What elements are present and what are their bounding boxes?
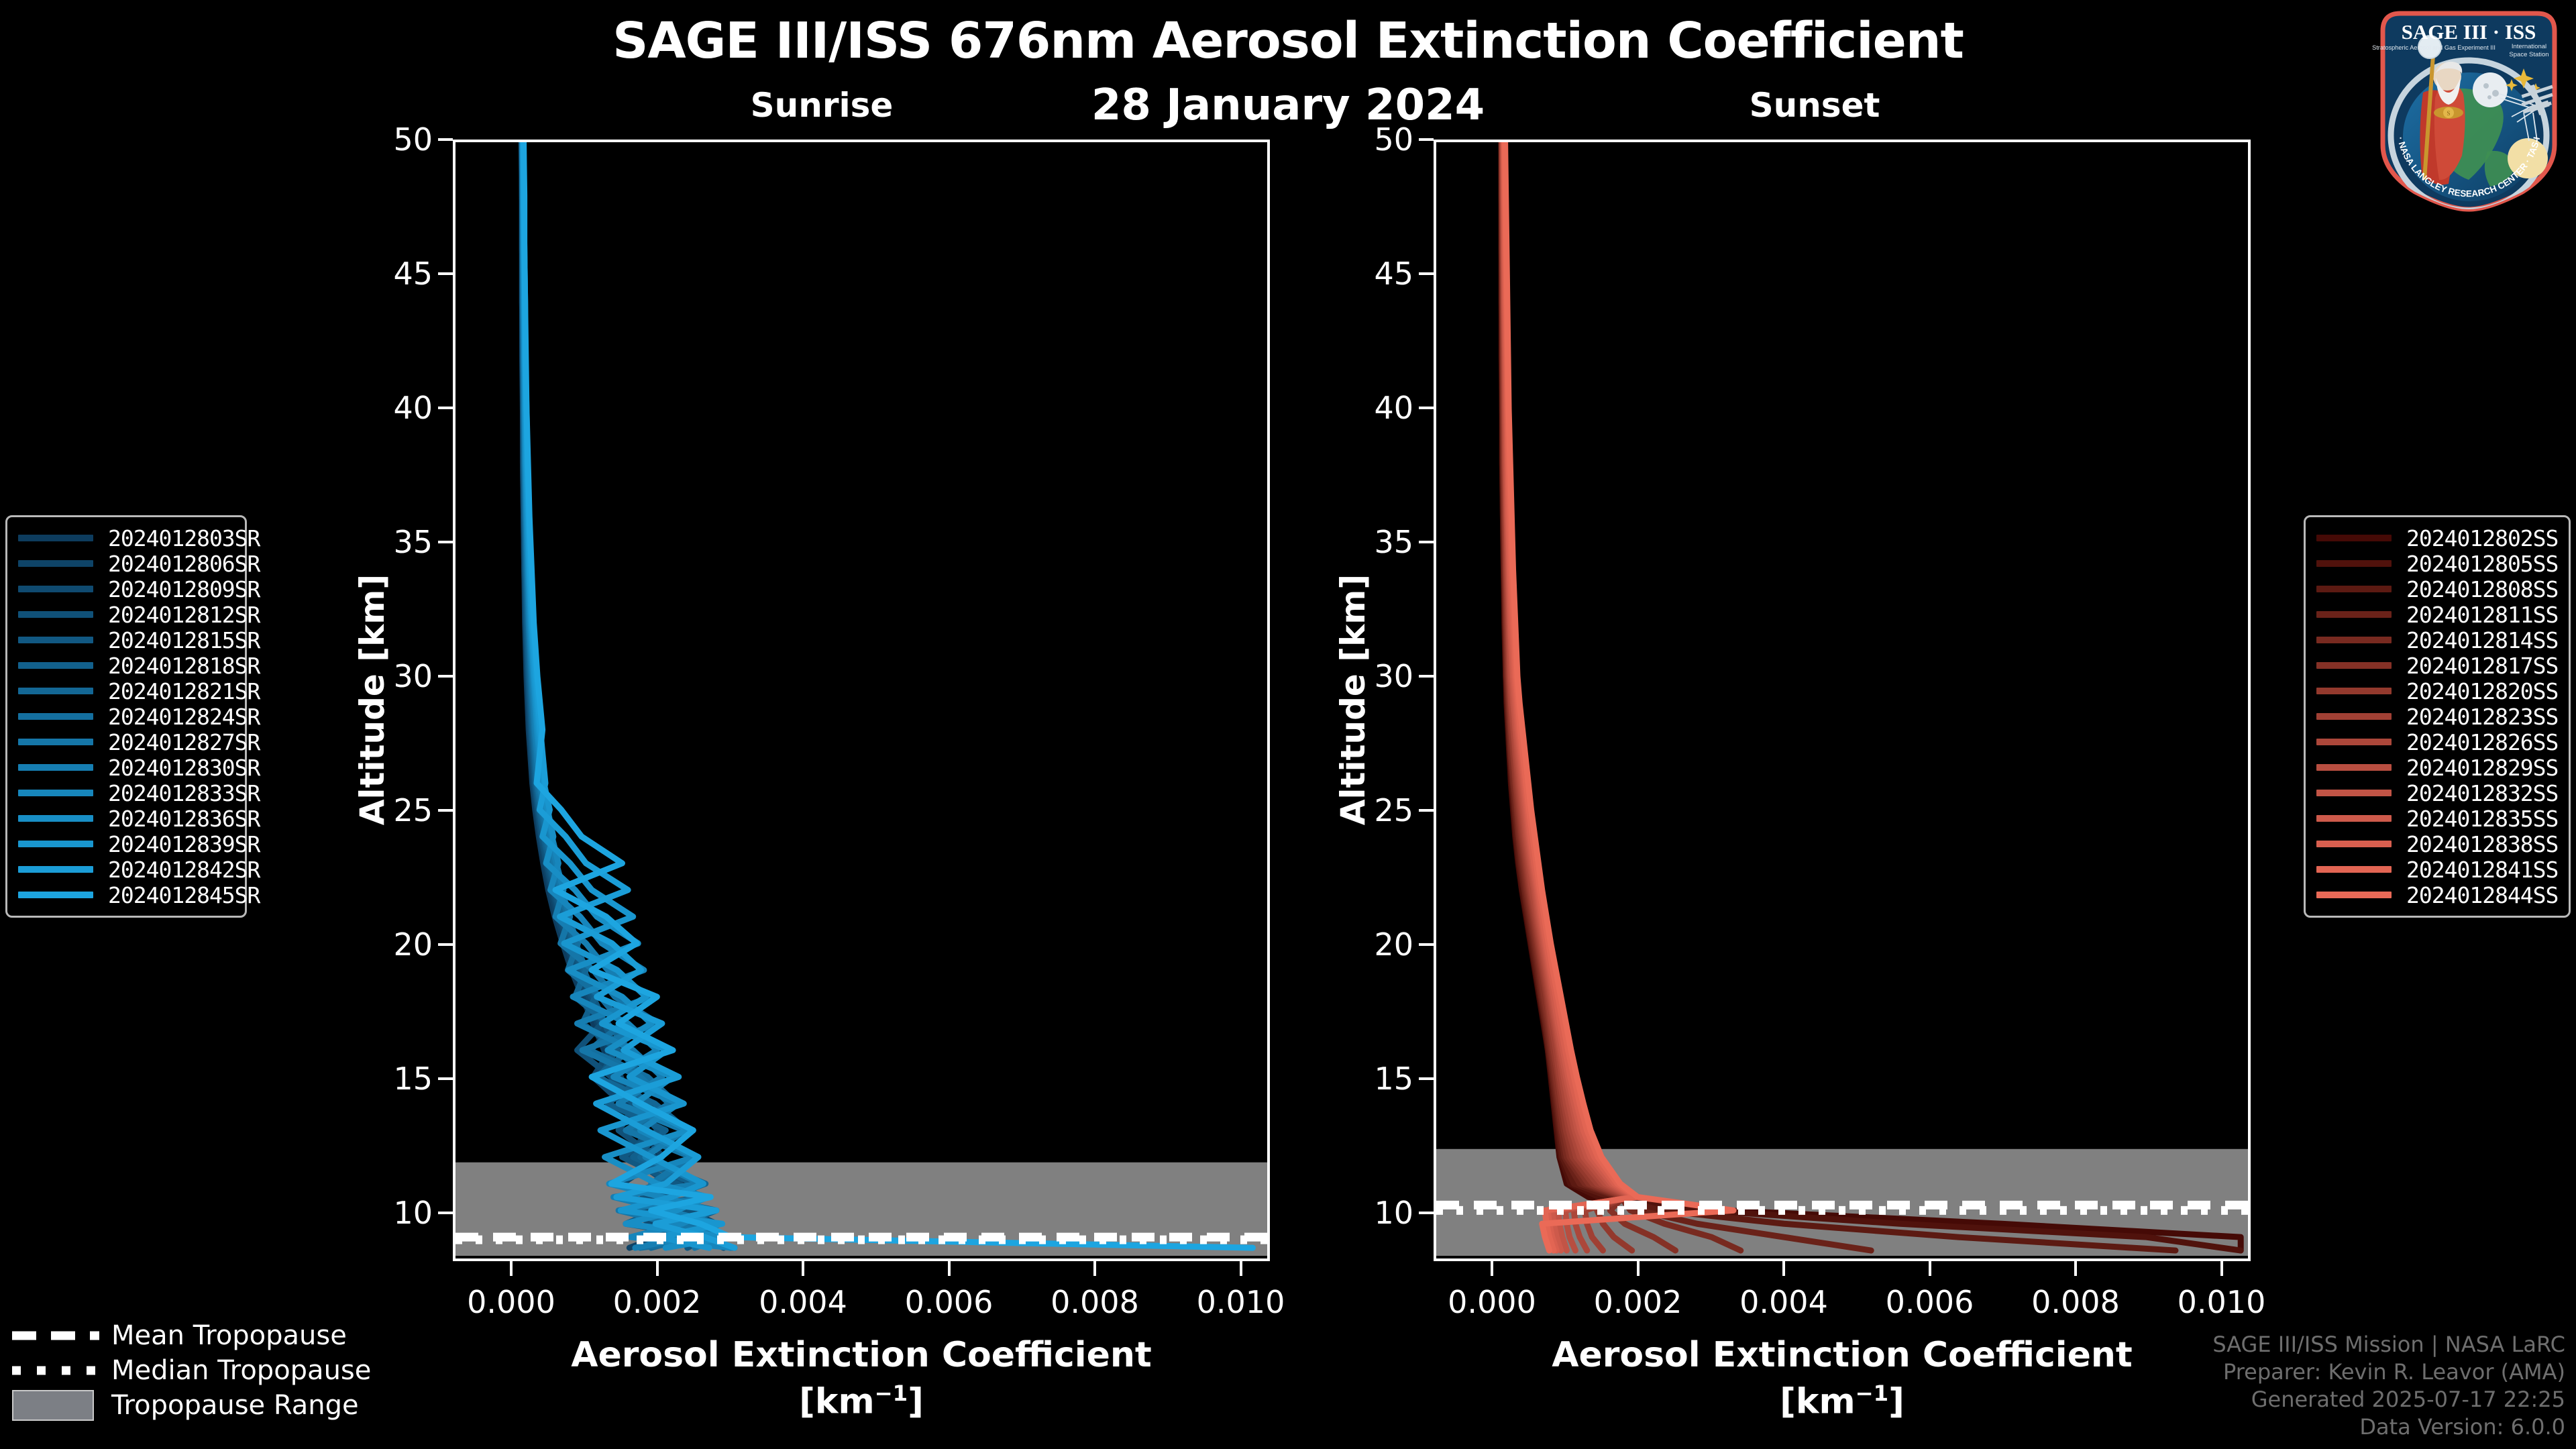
y-tick-mark (438, 1077, 453, 1080)
legend-item[interactable]: 2024012811SS (2316, 602, 2558, 627)
y-tick-label: 10 (1306, 1195, 1413, 1231)
x-tick-label: 0.006 (1886, 1284, 1974, 1320)
y-tick-mark (1419, 1212, 1434, 1214)
x-tick-label: 0.010 (1197, 1284, 1285, 1320)
x-tick-label: 0.002 (1594, 1284, 1682, 1320)
x-tick-mark (1491, 1261, 1493, 1276)
panel-subtitle-sunset: Sunset (1580, 86, 2049, 125)
legend-item-label: 2024012844SS (2406, 882, 2558, 908)
legend-item[interactable]: 2024012836SR (18, 806, 234, 831)
legend-item-label: 2024012823SS (2406, 704, 2558, 730)
legend-item[interactable]: 2024012809SR (18, 576, 234, 602)
legend-item-label: 2024012832SS (2406, 780, 2558, 806)
legend-item-mean-tropopause[interactable]: Mean Tropopause (12, 1318, 388, 1353)
y-tick-mark (1419, 675, 1434, 678)
x-axis-units: [km−1] (1434, 1381, 2251, 1421)
legend-item[interactable]: 2024012832SS (2316, 780, 2558, 806)
legend-item[interactable]: 2024012815SR (18, 627, 234, 653)
legend-item[interactable]: 2024012821SR (18, 678, 234, 704)
y-tick-mark (1419, 1077, 1434, 1080)
legend-item[interactable]: 2024012806SR (18, 551, 234, 576)
legend-item-label: 2024012821SR (108, 678, 260, 704)
y-tick-label: 20 (1306, 926, 1413, 963)
legend-item[interactable]: 2024012826SS (2316, 729, 2558, 755)
legend-item-label: 2024012838SS (2406, 831, 2558, 857)
legend-item[interactable]: 2024012844SS (2316, 882, 2558, 908)
y-tick-mark (438, 407, 453, 409)
y-tick-mark (438, 138, 453, 141)
legend-item-label: 2024012802SS (2406, 525, 2558, 551)
legend-item-label: 2024012820SS (2406, 678, 2558, 704)
x-tick-mark (656, 1261, 659, 1276)
x-axis-units: [km−1] (453, 1381, 1270, 1421)
credits-line-mission: SAGE III/ISS Mission | NASA LaRC (2212, 1331, 2565, 1358)
legend-color-swatch (18, 611, 93, 618)
y-tick-label: 45 (325, 256, 433, 292)
legend-color-swatch (18, 764, 93, 771)
credits-line-generated: Generated 2025-07-17 22:25 (2212, 1386, 2565, 1413)
legend-color-swatch (2316, 790, 2392, 796)
legend-item[interactable]: 2024012824SR (18, 704, 234, 729)
legend-item[interactable]: 2024012845SR (18, 882, 234, 908)
legend-color-swatch (2316, 586, 2392, 592)
legend-item-label: 2024012803SR (108, 525, 260, 551)
legend-color-swatch (2316, 892, 2392, 898)
legend-color-swatch (18, 790, 93, 796)
sage-iii-iss-logo: S SAGE III · ISS Stratospheric Aerosol a… (2368, 4, 2569, 213)
legend-item-label: 2024012826SS (2406, 729, 2558, 755)
x-tick-mark (510, 1261, 513, 1276)
legend-item-label: 2024012830SR (108, 755, 260, 781)
y-tick-mark (438, 809, 453, 812)
x-axis-label: Aerosol Extinction Coefficient (453, 1335, 1270, 1375)
legend-color-swatch (18, 866, 93, 873)
legend-sunrise[interactable]: 2024012803SR2024012806SR2024012809SR2024… (5, 515, 247, 918)
legend-color-swatch (18, 535, 93, 541)
legend-item-label: 2024012836SR (108, 806, 260, 832)
credits-line-data-version: Data Version: 6.0.0 (2212, 1413, 2565, 1441)
legend-color-swatch (2316, 841, 2392, 847)
legend-color-swatch (18, 662, 93, 669)
legend-item-median-tropopause[interactable]: Median Tropopause (12, 1353, 388, 1388)
x-tick-label: 0.008 (2031, 1284, 2120, 1320)
svg-text:S: S (2447, 110, 2450, 117)
legend-item[interactable]: 2024012818SR (18, 653, 234, 678)
legend-color-swatch (18, 637, 93, 643)
legend-item-label: 2024012835SS (2406, 806, 2558, 832)
legend-item-label: 2024012829SS (2406, 755, 2558, 781)
y-tick-mark (438, 675, 453, 678)
x-tick-mark (1637, 1261, 1640, 1276)
legend-item[interactable]: 2024012802SS (2316, 525, 2558, 551)
x-tick-label: 0.000 (467, 1284, 555, 1320)
legend-item-label: 2024012841SS (2406, 857, 2558, 883)
x-tick-label: 0.002 (613, 1284, 702, 1320)
y-tick-label: 50 (1306, 121, 1413, 158)
legend-item-label: 2024012814SS (2406, 627, 2558, 653)
legend-color-swatch (18, 892, 93, 898)
y-axis-label: Altitude [km] (353, 512, 392, 888)
panel-subtitle-sunrise: Sunrise (587, 86, 1057, 125)
legend-item[interactable]: 2024012835SS (2316, 806, 2558, 831)
legend-item[interactable]: 2024012812SR (18, 602, 234, 627)
x-tick-mark (1240, 1261, 1242, 1276)
x-tick-label: 0.000 (1448, 1284, 1536, 1320)
y-tick-mark (1419, 272, 1434, 275)
legend-item-label: 2024012809SR (108, 576, 260, 602)
y-tick-label: 15 (1306, 1061, 1413, 1097)
legend-color-swatch (18, 560, 93, 567)
legend-item[interactable]: 2024012838SS (2316, 831, 2558, 857)
legend-item[interactable]: 2024012823SS (2316, 704, 2558, 729)
legend-color-swatch (2316, 739, 2392, 745)
x-tick-label: 0.010 (2178, 1284, 2266, 1320)
legend-item-label: 2024012827SR (108, 729, 260, 755)
x-tick-mark (802, 1261, 804, 1276)
legend-color-swatch (2316, 713, 2392, 720)
legend-item-label: 2024012824SR (108, 704, 260, 730)
y-tick-mark (1419, 407, 1434, 409)
y-tick-mark (1419, 809, 1434, 812)
x-tick-label: 0.008 (1051, 1284, 1139, 1320)
legend-item[interactable]: 2024012805SS (2316, 551, 2558, 576)
legend-color-swatch (18, 586, 93, 592)
legend-color-swatch (18, 815, 93, 822)
legend-item[interactable]: 2024012814SS (2316, 627, 2558, 653)
y-tick-label: 45 (1306, 256, 1413, 292)
y-tick-mark (438, 272, 453, 275)
logo-subtitle-left: Stratospheric Aerosol and Gas Experiment… (2372, 44, 2495, 51)
credits-line-preparer: Preparer: Kevin R. Leavor (AMA) (2212, 1358, 2565, 1386)
legend-item-label: 2024012845SR (108, 882, 260, 908)
legend-color-swatch (18, 713, 93, 720)
y-tick-mark (438, 1212, 453, 1214)
legend-item[interactable]: 2024012820SS (2316, 678, 2558, 704)
legend-item[interactable]: 2024012817SS (2316, 653, 2558, 678)
legend-item-label: 2024012806SR (108, 551, 260, 577)
legend-item-label: 2024012812SR (108, 602, 260, 628)
y-tick-mark (438, 541, 453, 543)
y-tick-label: 40 (1306, 390, 1413, 426)
legend-label-tropopause-range: Tropopause Range (111, 1390, 359, 1421)
y-tick-label: 15 (325, 1061, 433, 1097)
legend-color-swatch (2316, 688, 2392, 694)
sunrise-profile-canvas (455, 142, 1267, 1258)
legend-item[interactable]: 2024012842SR (18, 857, 234, 882)
legend-color-swatch (2316, 637, 2392, 643)
x-tick-mark (2074, 1261, 2077, 1276)
legend-color-swatch (2316, 560, 2392, 567)
legend-item[interactable]: 2024012833SR (18, 780, 234, 806)
x-axis-label: Aerosol Extinction Coefficient (1434, 1335, 2251, 1375)
page-title: SAGE III/ISS 676nm Aerosol Extinction Co… (0, 12, 2576, 70)
legend-item[interactable]: 2024012830SR (18, 755, 234, 780)
legend-color-swatch (2316, 764, 2392, 771)
y-tick-label: 50 (325, 121, 433, 158)
legend-color-swatch (18, 688, 93, 694)
legend-color-swatch (2316, 866, 2392, 873)
legend-item[interactable]: 2024012808SS (2316, 576, 2558, 602)
legend-item-label: 2024012811SS (2406, 602, 2558, 628)
legend-tropopause[interactable]: Mean Tropopause Median Tropopause Tropop… (12, 1318, 388, 1423)
legend-item-label: 2024012815SR (108, 627, 260, 653)
y-tick-label: 20 (325, 926, 433, 963)
legend-color-swatch (2316, 611, 2392, 618)
x-tick-mark (1929, 1261, 1931, 1276)
legend-item[interactable]: 2024012841SS (2316, 857, 2558, 882)
legend-sunset[interactable]: 2024012802SS2024012805SS2024012808SS2024… (2304, 515, 2571, 918)
legend-color-swatch (18, 739, 93, 745)
x-tick-mark (2220, 1261, 2223, 1276)
logo-subtitle-right-1: International (2512, 43, 2546, 50)
legend-color-swatch (2316, 662, 2392, 669)
legend-label-mean-tropopause: Mean Tropopause (111, 1320, 347, 1351)
x-tick-label: 0.006 (905, 1284, 994, 1320)
legend-item-label: 2024012805SS (2406, 551, 2558, 577)
sunset-profile-canvas (1436, 142, 2248, 1258)
x-tick-mark (1782, 1261, 1785, 1276)
x-tick-mark (1093, 1261, 1096, 1276)
legend-item[interactable]: 2024012829SS (2316, 755, 2558, 780)
legend-color-swatch (18, 841, 93, 847)
legend-item-label: 2024012818SR (108, 653, 260, 679)
x-tick-label: 0.004 (1739, 1284, 1828, 1320)
legend-item-label: 2024012808SS (2406, 576, 2558, 602)
legend-item[interactable]: 2024012827SR (18, 729, 234, 755)
y-tick-mark (1419, 541, 1434, 543)
legend-item-tropopause-range[interactable]: Tropopause Range (12, 1388, 388, 1423)
plot-area-sunset (1434, 140, 2251, 1261)
legend-item-label: 2024012842SR (108, 857, 260, 883)
logo-title: SAGE III · ISS (2402, 20, 2536, 44)
plot-area-sunrise (453, 140, 1270, 1261)
x-tick-mark (948, 1261, 951, 1276)
y-tick-mark (1419, 138, 1434, 141)
y-tick-mark (1419, 943, 1434, 946)
x-tick-label: 0.004 (759, 1284, 847, 1320)
y-tick-label: 10 (325, 1195, 433, 1231)
logo-subtitle-right-2: Space Station (2509, 51, 2548, 58)
legend-color-swatch (2316, 815, 2392, 822)
legend-item-label: 2024012839SR (108, 831, 260, 857)
dashed-line-icon (12, 1329, 99, 1342)
legend-color-swatch (2316, 535, 2392, 541)
y-axis-label: Altitude [km] (1334, 512, 1373, 888)
dotted-line-icon (12, 1364, 99, 1377)
legend-item-label: 2024012833SR (108, 780, 260, 806)
legend-label-median-tropopause: Median Tropopause (111, 1355, 371, 1386)
y-tick-label: 40 (325, 390, 433, 426)
credits-block: SAGE III/ISS Mission | NASA LaRC Prepare… (2212, 1331, 2565, 1441)
legend-item[interactable]: 2024012839SR (18, 831, 234, 857)
y-tick-mark (438, 943, 453, 946)
legend-item-label: 2024012817SS (2406, 653, 2558, 679)
gray-band-icon (12, 1399, 99, 1412)
legend-item[interactable]: 2024012803SR (18, 525, 234, 551)
